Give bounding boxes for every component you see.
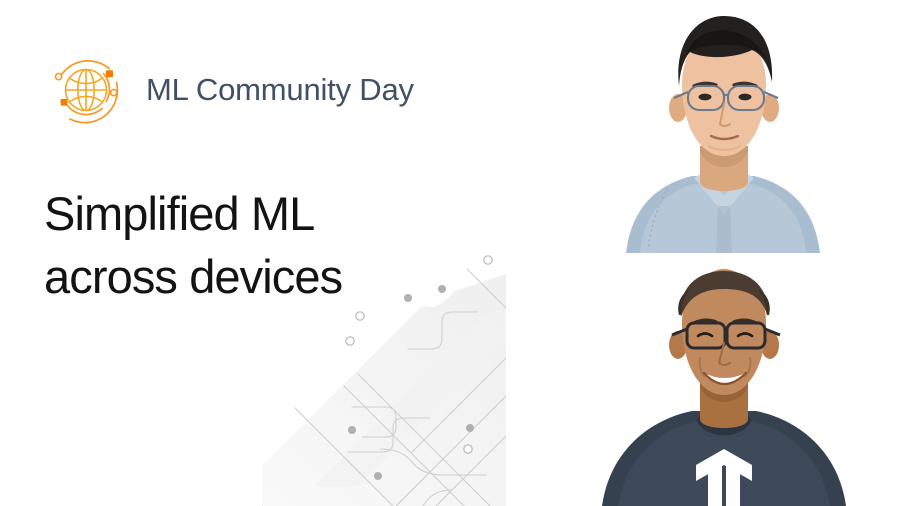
slide-headline: Simplified ML across devices [44, 183, 514, 308]
brand-lockup: ML Community Day [40, 44, 414, 136]
presentation-slide: ML Community Day Simplified ML across de… [0, 0, 900, 506]
speaker-portrait-top [540, 0, 900, 253]
headline-line-1: Simplified ML [44, 183, 514, 246]
orbiting-globe-icon [40, 44, 132, 136]
headline-line-2: across devices [44, 246, 514, 309]
speaker-photo-column [540, 0, 900, 506]
brand-wordmark: ML Community Day [146, 74, 414, 107]
speaker-portrait-bottom [540, 253, 900, 506]
